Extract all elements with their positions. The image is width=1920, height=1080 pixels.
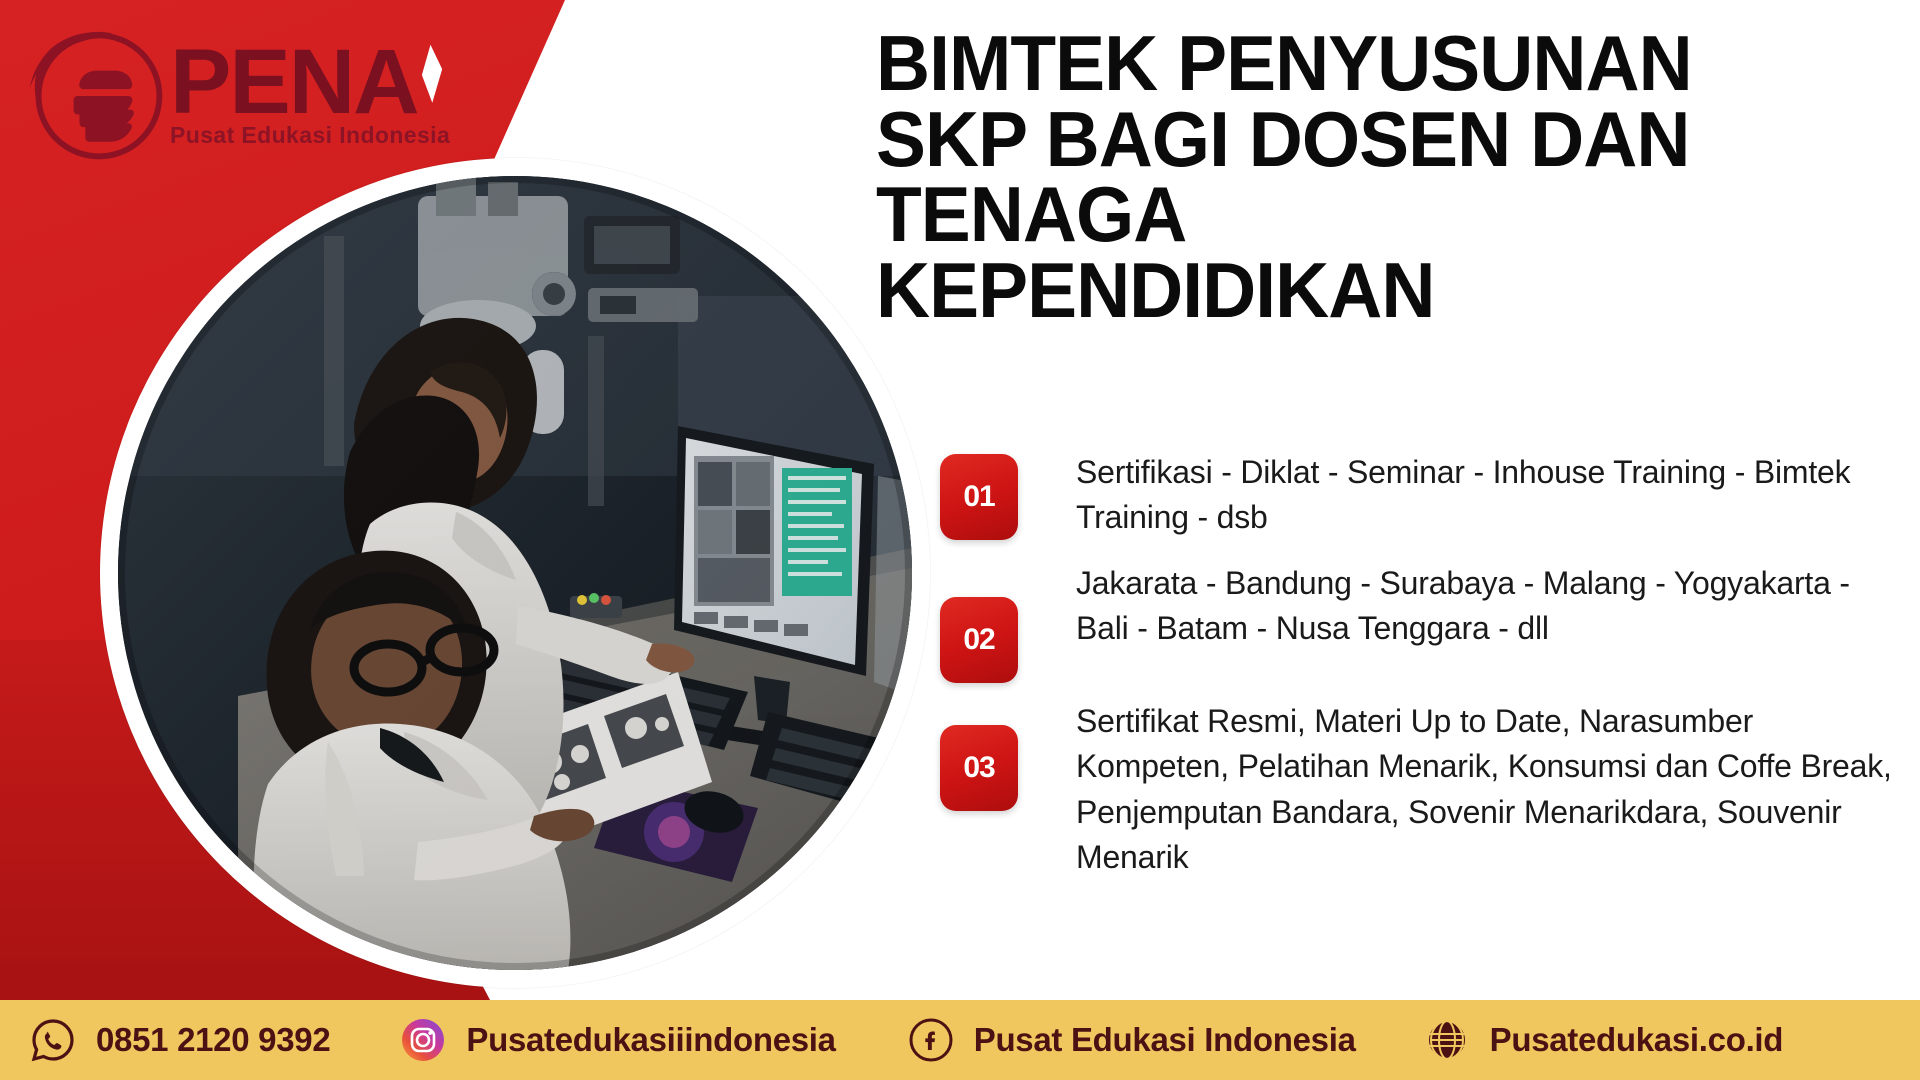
contact-website[interactable]: Pusatedukasi.co.id (1424, 1017, 1784, 1063)
feature-item-01: 01 Sertifikasi - Diklat - Seminar - Inho… (940, 448, 1900, 541)
contact-facebook-label: Pusat Edukasi Indonesia (974, 1021, 1356, 1059)
feature-text-03: Sertifikat Resmi, Materi Up to Date, Nar… (1076, 697, 1900, 881)
pena-swirl-circle-logo-icon (14, 16, 182, 172)
logo-wordmark: PENA Pusat Edukasi Indonesia (170, 39, 450, 149)
facebook-icon (908, 1017, 954, 1063)
feature-number-badge-02: 02 (940, 597, 1018, 683)
title-line-1: BIMTEK PENYUSUNAN (876, 26, 1865, 102)
contact-facebook[interactable]: Pusat Edukasi Indonesia (908, 1017, 1356, 1063)
feature-number-badge-01: 01 (940, 454, 1018, 540)
brand-logo: PENA Pusat Edukasi Indonesia (14, 14, 534, 174)
globe-icon (1424, 1017, 1470, 1063)
title-line-3: TENAGA (876, 177, 1865, 253)
promotional-banner: PENA Pusat Edukasi Indonesia (0, 0, 1920, 1080)
instagram-icon (400, 1017, 446, 1063)
feature-item-02: 02 Jakarata - Bandung - Surabaya - Malan… (940, 559, 1900, 683)
page-title: BIMTEK PENYUSUNAN SKP BAGI DOSEN DAN TEN… (876, 26, 1865, 329)
whatsapp-icon (30, 1017, 76, 1063)
lab-researchers-illustration (118, 176, 912, 970)
contact-whatsapp-label: 0851 2120 9392 (96, 1021, 330, 1059)
hero-photo (118, 176, 912, 970)
contact-website-label: Pusatedukasi.co.id (1490, 1021, 1784, 1059)
logo-tagline: Pusat Edukasi Indonesia (170, 122, 450, 149)
contact-whatsapp[interactable]: 0851 2120 9392 (30, 1017, 330, 1063)
feature-item-03: 03 Sertifikat Resmi, Materi Up to Date, … (940, 697, 1900, 881)
contact-instagram[interactable]: Pusatedukasiiindonesia (400, 1017, 835, 1063)
title-line-2: SKP BAGI DOSEN DAN (876, 102, 1865, 178)
feature-text-01: Sertifikasi - Diklat - Seminar - Inhouse… (1076, 448, 1900, 541)
feature-text-02: Jakarata - Bandung - Surabaya - Malang -… (1076, 559, 1900, 652)
feature-number-badge-03: 03 (940, 725, 1018, 811)
logo-word: PENA (170, 39, 450, 126)
contact-footer-bar: 0851 2120 9392 Pusatedukasiiindonesia (0, 1000, 1920, 1080)
contact-instagram-label: Pusatedukasiiindonesia (466, 1021, 835, 1059)
feature-list: 01 Sertifikasi - Diklat - Seminar - Inho… (940, 448, 1900, 881)
title-line-4: KEPENDIDIKAN (876, 253, 1865, 329)
